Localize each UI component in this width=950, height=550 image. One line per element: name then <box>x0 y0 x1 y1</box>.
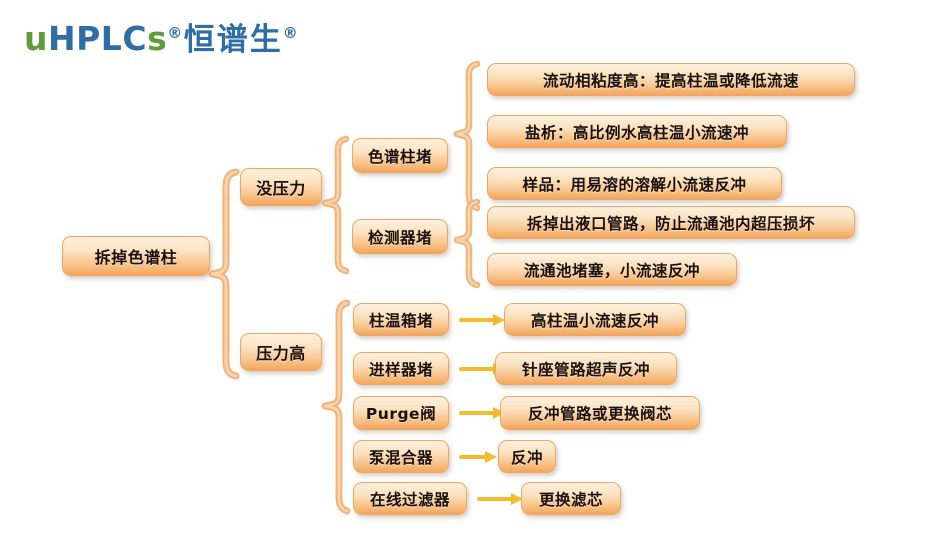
node-inline-filter[interactable]: 在线过滤器 <box>353 482 467 515</box>
brace-no-pressure <box>320 135 350 275</box>
node-high-pressure[interactable]: 压力高 <box>240 333 322 371</box>
action-box-remove-outlet-tubing[interactable]: 拆掉出液口管路，防止流通池内超压损坏 <box>487 206 855 239</box>
action-label: 反冲 <box>511 446 543 468</box>
action-box-sample-dissolution[interactable]: 样品：用易溶的溶解小流速反冲 <box>487 167 782 200</box>
node-column-clog[interactable]: 色谱柱堵 <box>352 138 448 173</box>
node-inline-filter-label: 在线过滤器 <box>370 488 450 510</box>
action-label: 高柱温小流速反冲 <box>531 309 659 331</box>
node-autosampler-clog-label: 进样器堵 <box>369 358 433 380</box>
action-label: 样品：用易溶的溶解小流速反冲 <box>522 173 746 195</box>
node-root-label: 拆掉色谱柱 <box>95 244 178 268</box>
node-oven-clog-label: 柱温箱堵 <box>369 309 433 331</box>
node-no-pressure-label: 没压力 <box>256 175 306 199</box>
node-detector-clog-label: 检测器堵 <box>368 226 432 248</box>
action-box-replace-filter-element[interactable]: 更换滤芯 <box>521 482 621 515</box>
node-detector-clog[interactable]: 检测器堵 <box>352 219 448 254</box>
action-box-flowcell-blocked[interactable]: 流通池堵塞，小流速反冲 <box>487 253 737 286</box>
node-purge-valve-label: Purge阀 <box>366 402 436 424</box>
registered-mark-icon-2: ® <box>283 24 299 42</box>
brace-column-clog <box>452 60 482 212</box>
action-box-backflush-or-replace-cartridge[interactable]: 反冲管路或更换阀芯 <box>500 396 700 430</box>
logo-text-s: s <box>147 19 167 58</box>
brace-detector-clog <box>452 198 482 288</box>
node-pump-mixer[interactable]: 泵混合器 <box>353 440 449 473</box>
arrow-oven-clog-icon <box>459 311 507 329</box>
action-label: 流动相粘度高：提高柱温或降低流速 <box>543 69 799 91</box>
arrow-inline-filter-icon <box>477 490 525 508</box>
action-label: 更换滤芯 <box>539 488 603 510</box>
diagram-canvas: uHPLCs®恒谱生® 拆掉色谱柱 没压力 色谱柱堵 检测器堵 <box>0 0 950 550</box>
action-label: 针座管路超声反冲 <box>522 358 650 380</box>
action-box-mobile-phase-viscosity[interactable]: 流动相粘度高：提高柱温或降低流速 <box>487 63 855 96</box>
node-purge-valve[interactable]: Purge阀 <box>353 396 449 430</box>
arrow-pump-mixer-icon <box>459 448 499 466</box>
brace-high-pressure <box>320 298 352 516</box>
action-box-backflush[interactable]: 反冲 <box>498 440 556 473</box>
logo-text-chinese: 恒谱生 <box>183 22 283 58</box>
brace-root <box>206 168 240 380</box>
logo-text-hplc: HPLC <box>48 19 147 58</box>
action-label: 流通池堵塞，小流速反冲 <box>524 259 700 281</box>
action-box-oven-backflush[interactable]: 高柱温小流速反冲 <box>504 303 686 336</box>
node-root[interactable]: 拆掉色谱柱 <box>62 236 210 276</box>
action-label: 拆掉出液口管路，防止流通池内超压损坏 <box>527 212 815 234</box>
node-oven-clog[interactable]: 柱温箱堵 <box>353 303 449 336</box>
action-box-needle-seat-sonication[interactable]: 针座管路超声反冲 <box>495 352 677 385</box>
logo-text-u: u <box>24 19 48 58</box>
registered-mark-icon: ® <box>167 24 183 42</box>
node-no-pressure[interactable]: 没压力 <box>240 168 322 206</box>
action-label: 盐析：高比例水高柱温小流速冲 <box>525 121 749 143</box>
action-label: 反冲管路或更换阀芯 <box>528 402 672 424</box>
node-pump-mixer-label: 泵混合器 <box>369 446 433 468</box>
brand-logo: uHPLCs®恒谱生® <box>24 22 298 56</box>
node-autosampler-clog[interactable]: 进样器堵 <box>353 352 449 385</box>
action-box-salting-out[interactable]: 盐析：高比例水高柱温小流速冲 <box>487 115 787 148</box>
node-high-pressure-label: 压力高 <box>256 340 306 364</box>
node-column-clog-label: 色谱柱堵 <box>368 145 432 167</box>
